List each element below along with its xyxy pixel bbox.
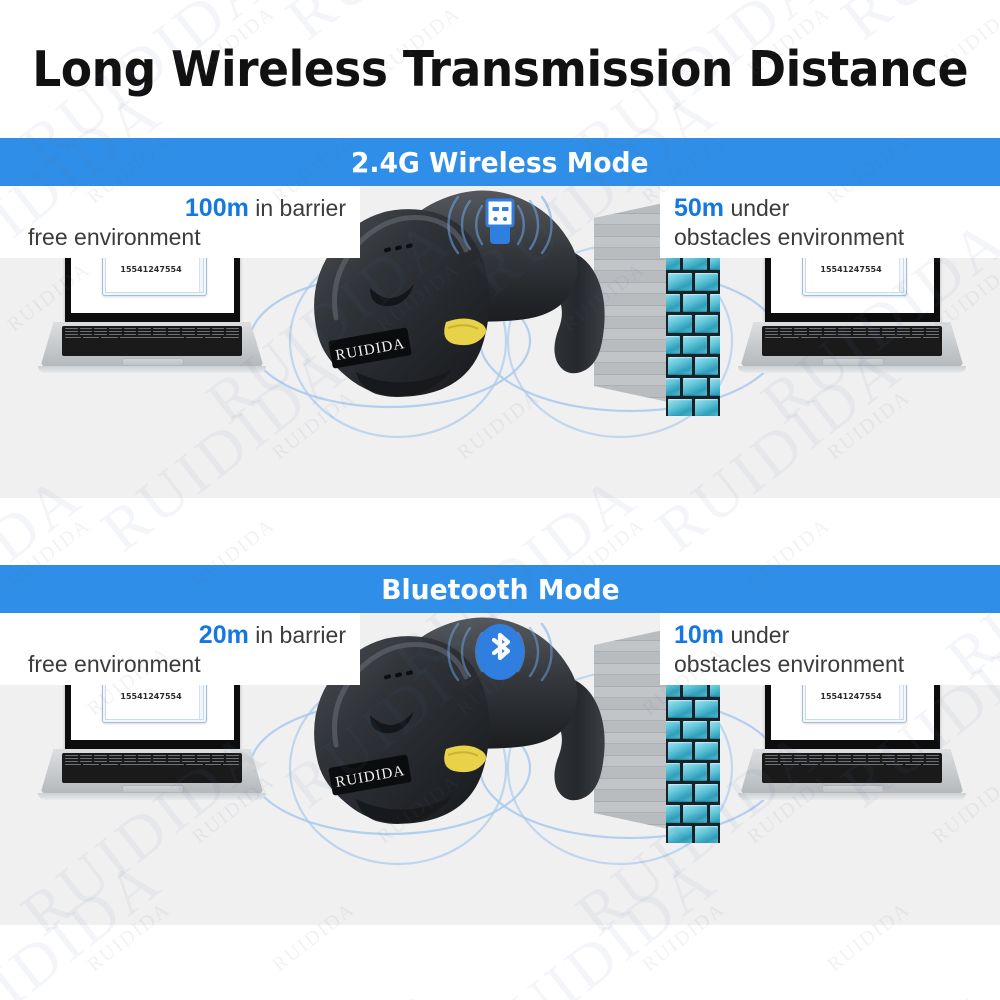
key [124, 755, 137, 756]
distance-value: 10m [674, 621, 724, 649]
distance-suffix: under [730, 195, 789, 221]
key [124, 331, 137, 332]
brick [668, 700, 692, 718]
key [765, 328, 778, 329]
key [83, 337, 99, 338]
keyboard-row [65, 331, 239, 332]
key [765, 755, 778, 756]
key [809, 761, 822, 762]
brick [695, 784, 718, 802]
distance-value: 100m [185, 194, 249, 222]
key [65, 337, 81, 338]
key [153, 328, 166, 329]
key [109, 334, 122, 335]
key [223, 337, 239, 338]
key [923, 337, 939, 338]
keyboard-row [65, 328, 239, 329]
brick [666, 763, 680, 781]
key [905, 337, 921, 338]
key [182, 331, 195, 332]
key [868, 334, 881, 335]
key [168, 331, 181, 332]
brick [666, 336, 680, 354]
key [780, 758, 793, 759]
key [182, 334, 195, 335]
key [905, 764, 921, 765]
key [212, 758, 225, 759]
brick [668, 273, 692, 291]
section-band-label: 2.4G Wireless Mode [351, 146, 649, 179]
key [182, 755, 195, 756]
key [168, 328, 181, 329]
brick [683, 721, 707, 739]
key [897, 755, 910, 756]
section-divider [0, 498, 1000, 565]
key [109, 755, 122, 756]
key [780, 761, 793, 762]
key [926, 761, 939, 762]
key [882, 755, 895, 756]
key [912, 758, 925, 759]
key [780, 755, 793, 756]
key [153, 761, 166, 762]
brick [683, 336, 707, 354]
key [882, 331, 895, 332]
caption-left-line1: 100m in barrier [185, 193, 346, 224]
caption-left-bluetooth: 20m in barrier free environment [0, 613, 360, 685]
key [138, 328, 151, 329]
key [226, 334, 239, 335]
key [212, 334, 225, 335]
key [138, 334, 151, 335]
key [824, 334, 837, 335]
key [923, 764, 939, 765]
key [794, 758, 807, 759]
key [838, 761, 851, 762]
brick [666, 294, 680, 312]
section-band-label: Bluetooth Mode [381, 573, 619, 606]
keyboard-row [765, 334, 939, 335]
key [153, 758, 166, 759]
key [897, 328, 910, 329]
key [780, 328, 793, 329]
key [794, 331, 807, 332]
key [212, 331, 225, 332]
key [868, 758, 881, 759]
brick [666, 378, 680, 396]
key [65, 755, 78, 756]
key [886, 337, 902, 338]
key [809, 331, 822, 332]
key [912, 761, 925, 762]
key [882, 334, 895, 335]
key [80, 755, 93, 756]
caption-right-line1: 50m under [674, 193, 789, 224]
brick [668, 742, 692, 760]
key [853, 334, 866, 335]
key [809, 755, 822, 756]
key [765, 334, 778, 335]
caption-right-line2: obstacles environment [674, 223, 904, 251]
key [765, 337, 781, 338]
key [897, 334, 910, 335]
barcode-line: 15541247554 [820, 263, 903, 277]
key [868, 328, 881, 329]
key [853, 331, 866, 332]
keyboard-row [765, 337, 939, 338]
key [101, 764, 117, 765]
brick [710, 763, 720, 781]
key [794, 755, 807, 756]
brick [695, 700, 718, 718]
key [124, 758, 137, 759]
laptop-trackpad[interactable] [122, 358, 184, 366]
key [926, 328, 939, 329]
key [794, 761, 807, 762]
key [765, 758, 778, 759]
key [912, 331, 925, 332]
keyboard-row [65, 758, 239, 759]
key [205, 764, 221, 765]
key [94, 328, 107, 329]
key [109, 328, 122, 329]
key [138, 755, 151, 756]
brick [683, 294, 707, 312]
laptop-front-edge [38, 793, 266, 800]
key [226, 761, 239, 762]
laptop-trackpad[interactable] [822, 785, 884, 793]
brick [710, 378, 720, 396]
watermark-text: RUIDIDA [749, 972, 1000, 1000]
page-title-bar: Long Wireless Transmission Distance [0, 0, 1000, 138]
caption-right-line2: obstacles environment [674, 650, 904, 678]
laptop-keyboard[interactable] [62, 326, 242, 356]
key [912, 755, 925, 756]
laptop-front-edge [738, 793, 966, 800]
key [153, 334, 166, 335]
key [868, 755, 881, 756]
key [182, 758, 195, 759]
key [186, 337, 202, 338]
key [824, 758, 837, 759]
brick [668, 399, 692, 416]
caption-right-line1: 10m under [674, 620, 789, 651]
key [80, 761, 93, 762]
brick [695, 273, 718, 291]
distance-value: 50m [674, 194, 724, 222]
key [838, 334, 851, 335]
key [838, 755, 851, 756]
barcode-line: 15541247554 [120, 690, 203, 704]
key [780, 331, 793, 332]
key [853, 761, 866, 762]
caption-left-line2: free environment [28, 650, 201, 678]
brick [668, 784, 692, 802]
key [824, 761, 837, 762]
space-key [820, 337, 885, 338]
key [809, 758, 822, 759]
key [765, 764, 781, 765]
key [780, 334, 793, 335]
caption-right-wireless: 50m under obstacles environment [660, 186, 1000, 258]
key [65, 764, 81, 765]
laptop-keyboard[interactable] [762, 753, 942, 783]
key [138, 331, 151, 332]
brick [710, 805, 720, 823]
key [868, 331, 881, 332]
key [153, 755, 166, 756]
key [65, 328, 78, 329]
distance-suffix: in barrier [255, 622, 346, 648]
key [926, 758, 939, 759]
keyboard-row [65, 764, 239, 765]
brick [683, 378, 707, 396]
key [65, 334, 78, 335]
laptop-keyboard[interactable] [62, 753, 242, 783]
key [109, 758, 122, 759]
key [94, 334, 107, 335]
keyboard-row [65, 337, 239, 338]
brick [668, 357, 692, 375]
key [109, 331, 122, 332]
caption-right-bluetooth: 10m under obstacles environment [660, 613, 1000, 685]
laptop-base [740, 322, 964, 368]
laptop-base [40, 749, 264, 795]
keyboard-row [765, 331, 939, 332]
key [124, 761, 137, 762]
caption-left-line2: free environment [28, 223, 201, 251]
key [197, 334, 210, 335]
key [226, 758, 239, 759]
key [80, 328, 93, 329]
key [65, 758, 78, 759]
watermark-text: RUIDIDA [194, 972, 466, 1000]
brick [683, 763, 707, 781]
brick [695, 399, 718, 416]
brick [695, 742, 718, 760]
stage-wireless: 100m in barrier free environment 50m und… [0, 186, 1000, 498]
brick [695, 826, 718, 843]
key [838, 758, 851, 759]
brick [666, 805, 680, 823]
key [124, 328, 137, 329]
brick [695, 315, 718, 333]
space-key [120, 337, 185, 338]
key [809, 328, 822, 329]
key [226, 331, 239, 332]
section-2-4g-wireless: 2.4G Wireless Mode 100m in barrier free … [0, 138, 1000, 498]
space-key [120, 764, 185, 765]
barcode-line: 15541247554 [120, 263, 203, 277]
barcode-line: 15541247554 [820, 690, 903, 704]
key [853, 758, 866, 759]
laptop-base [740, 749, 964, 795]
brick [668, 826, 692, 843]
key [168, 334, 181, 335]
key [853, 755, 866, 756]
space-key [820, 764, 885, 765]
keyboard-row [65, 755, 239, 756]
key [94, 755, 107, 756]
key [897, 758, 910, 759]
brick [683, 805, 707, 823]
key [853, 328, 866, 329]
brick [710, 294, 720, 312]
key [65, 761, 78, 762]
brick [695, 357, 718, 375]
brick [710, 336, 720, 354]
key [765, 331, 778, 332]
key [153, 331, 166, 332]
caption-left-line1: 20m in barrier [199, 620, 346, 651]
distance-suffix: under [730, 622, 789, 648]
key [182, 328, 195, 329]
key [124, 334, 137, 335]
key [794, 328, 807, 329]
stage-bluetooth: 20m in barrier free environment 10m unde… [0, 613, 1000, 925]
key [882, 761, 895, 762]
key [94, 331, 107, 332]
key [197, 328, 210, 329]
key [926, 331, 939, 332]
key [912, 328, 925, 329]
key [94, 758, 107, 759]
key [94, 761, 107, 762]
key [783, 764, 799, 765]
key [65, 331, 78, 332]
key [882, 758, 895, 759]
key [197, 331, 210, 332]
key [912, 334, 925, 335]
key [168, 761, 181, 762]
key [882, 328, 895, 329]
key [168, 758, 181, 759]
section-bluetooth: Bluetooth Mode 20m in barrier free envir… [0, 565, 1000, 925]
brick [668, 315, 692, 333]
key [783, 337, 799, 338]
keyboard-row [65, 334, 239, 335]
laptop-keyboard[interactable] [762, 326, 942, 356]
key [809, 334, 822, 335]
key [897, 331, 910, 332]
laptop-trackpad[interactable] [122, 785, 184, 793]
key [109, 761, 122, 762]
key [80, 758, 93, 759]
key [80, 334, 93, 335]
key [197, 761, 210, 762]
key [182, 761, 195, 762]
keyboard-row [765, 764, 939, 765]
key [101, 337, 117, 338]
key [226, 328, 239, 329]
key [83, 764, 99, 765]
key [168, 755, 181, 756]
key [824, 331, 837, 332]
laptop-front-edge [738, 366, 966, 373]
distance-value: 20m [199, 621, 249, 649]
laptop-base [40, 322, 264, 368]
key [824, 328, 837, 329]
key [226, 755, 239, 756]
key [223, 764, 239, 765]
keyboard-row [765, 758, 939, 759]
key [765, 761, 778, 762]
key [197, 758, 210, 759]
key [205, 337, 221, 338]
key [794, 334, 807, 335]
keyboard-row [765, 761, 939, 762]
laptop-trackpad[interactable] [822, 358, 884, 366]
keyboard-row [765, 755, 939, 756]
key [838, 331, 851, 332]
page-title: Long Wireless Transmission Distance [32, 41, 968, 98]
key [886, 764, 902, 765]
keyboard-row [65, 761, 239, 762]
key [138, 761, 151, 762]
caption-left-wireless: 100m in barrier free environment [0, 186, 360, 258]
key [926, 334, 939, 335]
section-band-bluetooth: Bluetooth Mode [0, 565, 1000, 613]
bluetooth-icon [420, 621, 580, 683]
usb-dongle-icon [420, 194, 580, 256]
key [897, 761, 910, 762]
key [868, 761, 881, 762]
section-band-wireless: 2.4G Wireless Mode [0, 138, 1000, 186]
key [801, 764, 817, 765]
key [212, 755, 225, 756]
key [838, 328, 851, 329]
key [80, 331, 93, 332]
key [138, 758, 151, 759]
distance-suffix: in barrier [255, 195, 346, 221]
brick [666, 721, 680, 739]
key [212, 328, 225, 329]
key [212, 761, 225, 762]
key [197, 755, 210, 756]
key [926, 755, 939, 756]
laptop-front-edge [38, 366, 266, 373]
key [186, 764, 202, 765]
key [801, 337, 817, 338]
key [824, 755, 837, 756]
keyboard-row [765, 328, 939, 329]
brick [710, 721, 720, 739]
